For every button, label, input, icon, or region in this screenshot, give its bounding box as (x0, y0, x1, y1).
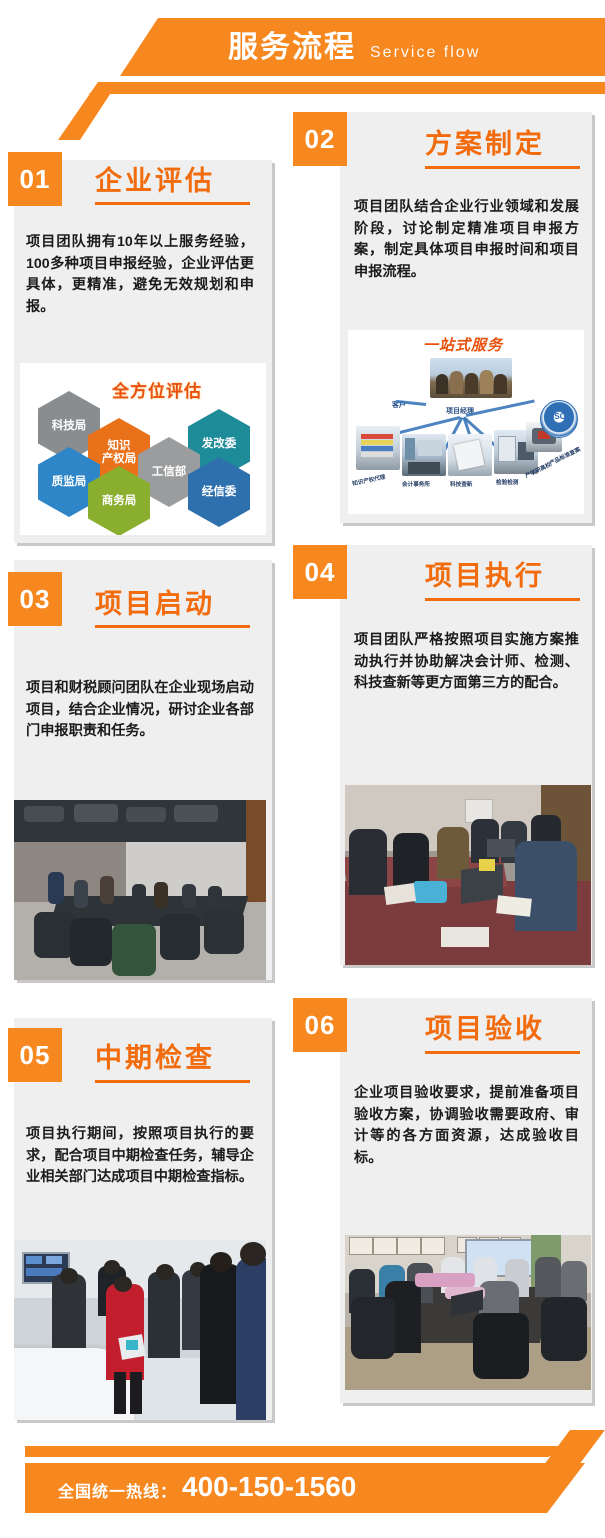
card-03-body: 项目和财税顾问团队在企业现场启动项目，结合企业情况，研讨企业各部门申报职责和任务… (26, 678, 254, 743)
card-02-number: 02 (293, 112, 347, 166)
service-branch-label-2: 会计事务所 (402, 480, 430, 488)
page-subtitle: Service flow (370, 40, 480, 66)
service-branch-photo-2 (402, 434, 446, 476)
card-06-photo (345, 1235, 591, 1390)
card-04-number: 04 (293, 545, 347, 599)
card-05-photo (14, 1240, 266, 1420)
card-04-photo (345, 785, 591, 965)
service-arrow-3 (394, 416, 461, 435)
card-06-title: 项目验收 (425, 1013, 545, 1045)
card-06-number: 06 (293, 998, 347, 1052)
card-02-title: 方案制定 (425, 128, 545, 160)
service-diagram-center-photo (430, 358, 512, 398)
card-04-body: 项目团队严格按照项目实施方案推动执行并协助解决会计师、检测、科技查新等更方面第三… (354, 630, 579, 695)
card-03-title: 项目启动 (95, 588, 215, 620)
service-branch-photo-1 (356, 426, 400, 470)
hotline-phone[interactable]: 400-150-1560 (182, 1471, 356, 1503)
card-06-body: 企业项目验收要求，提前准备项目验收方案，协调验收需要政府、审计等的各方面资源，达… (354, 1083, 579, 1169)
header-band (130, 18, 605, 76)
card-05-title: 中期检查 (95, 1042, 215, 1074)
card-01-number: 01 (8, 152, 62, 206)
card-05-number: 05 (8, 1028, 62, 1082)
card-05-title-rule (95, 1080, 250, 1083)
header-strip (88, 82, 605, 94)
page-footer: 全国统一热线： 400-150-1560 (0, 1410, 605, 1538)
card-01-title-rule (95, 202, 250, 205)
hex-diagram-title: 全方位评估 (112, 377, 202, 402)
service-arrow-2 (466, 399, 535, 416)
service-diagram-title: 一站式服务 (423, 334, 503, 355)
footer-strip (25, 1446, 573, 1457)
card-01-body: 项目团队拥有10年以上服务经验，100多种项目申报经验，企业评估更具体，更精准，… (26, 232, 254, 318)
card-02-body: 项目团队结合企业行业领域和发展阶段，讨论制定精准项目申报方案，制定具体项目申报时… (354, 197, 579, 283)
service-iso-seal: ISO (540, 400, 578, 438)
card-04-title-rule (425, 598, 580, 601)
card-05-body: 项目执行期间，按照项目执行的要求，配合项目中期检查任务，辅导企业相关部门达成项目… (26, 1124, 254, 1189)
card-06-title-rule (425, 1051, 580, 1054)
card-03-number: 03 (8, 572, 62, 626)
card-02-title-rule (425, 166, 580, 169)
card-03-title-rule (95, 625, 250, 628)
service-branch-label-3: 科技查新 (450, 480, 472, 488)
card-04-title: 项目执行 (425, 560, 545, 592)
hotline-label: 全国统一热线： (58, 1478, 177, 1502)
page-header: 服务流程 Service flow (0, 0, 605, 108)
hex-diagram: 全方位评估 科技局 知识产权局 发改委 质监局 工信部 商务局 经信委 (20, 363, 266, 535)
card-03-photo (14, 800, 266, 980)
service-iso-seal-text: ISO (541, 412, 577, 421)
service-branch-photo-3 (448, 434, 492, 476)
page-title: 服务流程 (228, 28, 356, 68)
service-branch-label-4: 检验检测 (496, 478, 518, 486)
card-01-title: 企业评估 (95, 165, 215, 197)
service-branch-label-1: 知识产权代理 (352, 473, 387, 488)
service-diagram: 一站式服务 客户 项目经理 (348, 330, 584, 514)
service-flow-poster: 服务流程 Service flow 01 企业评估 项目团队拥有10年以上服务经… (0, 0, 605, 1538)
